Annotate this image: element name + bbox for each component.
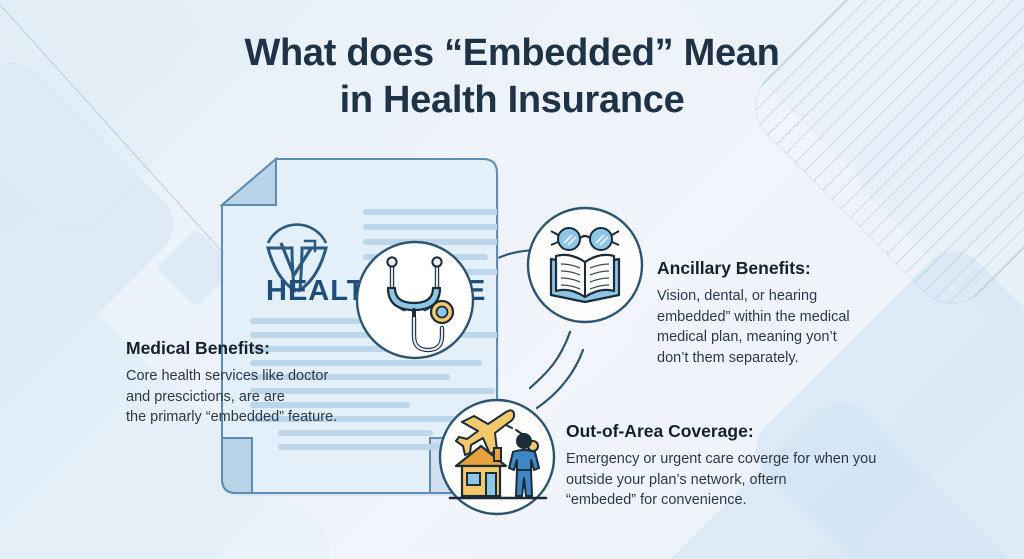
ancillary-benefits-icon-circle xyxy=(528,208,642,322)
out-of-area-heading: Out-of-Area Coverage: xyxy=(566,421,922,442)
ancillary-benefits-body: Vision, dental, or hearing embedded” wit… xyxy=(657,286,925,368)
section-out-of-area-coverage: Out-of-Area Coverage: Emergency or urgen… xyxy=(566,421,922,511)
section-medical-benefits: Medical Benefits: Core health services l… xyxy=(126,338,388,428)
medical-benefits-heading: Medical Benefits: xyxy=(126,338,388,359)
ancillary-benefits-heading: Ancillary Benefits: xyxy=(657,258,925,279)
infographic-canvas: What does “Embedded” Mean in Health Insu… xyxy=(0,0,1024,559)
out-of-area-body: Emergency or urgent care coverge for whe… xyxy=(566,449,922,511)
section-ancillary-benefits: Ancillary Benefits: Vision, dental, or h… xyxy=(657,258,925,368)
medical-benefits-body: Core health services like doctor and pre… xyxy=(126,366,388,428)
out-of-area-icon-circle xyxy=(440,400,554,514)
